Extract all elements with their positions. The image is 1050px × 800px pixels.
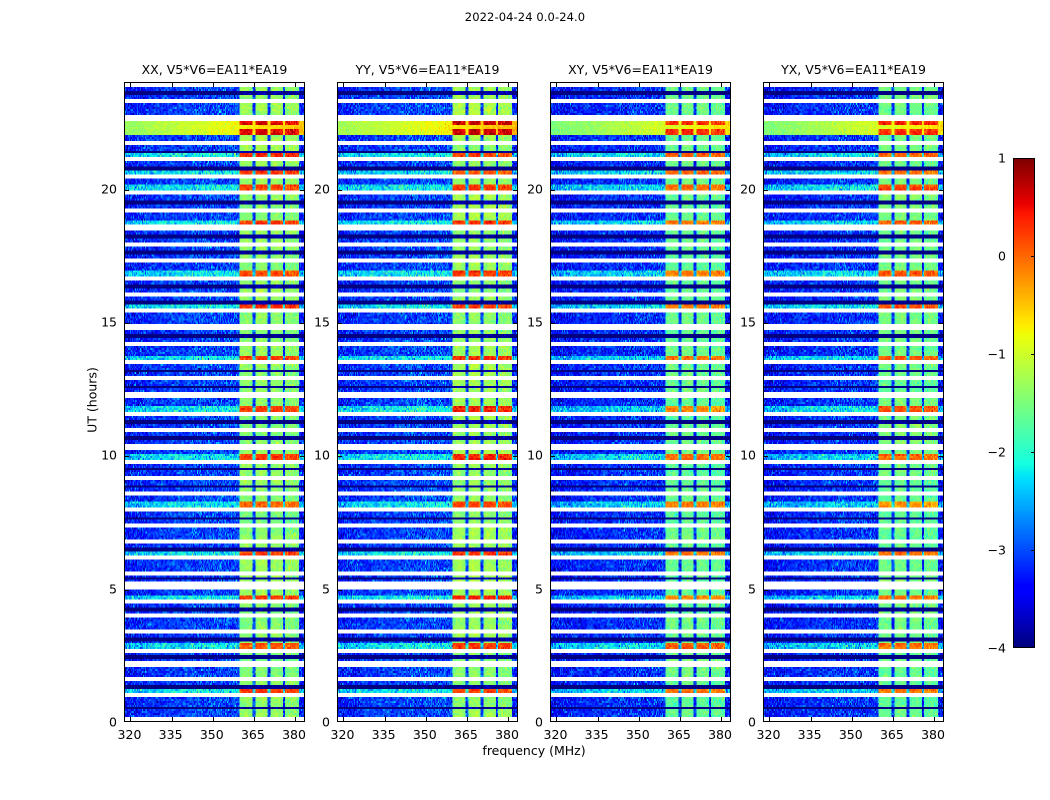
- colorbar-tick-label: 1: [998, 151, 1006, 166]
- x-tick: [385, 717, 386, 721]
- panel-title-yy: YY, V5*V6=EA11*EA19: [356, 62, 500, 77]
- y-tick: [726, 323, 730, 324]
- x-tick: [769, 83, 770, 87]
- axes-xy[interactable]: [550, 82, 731, 722]
- y-tick: [764, 456, 768, 457]
- y-tick-label: 10: [101, 448, 117, 463]
- colorbar-tick-label: 0: [998, 249, 1006, 264]
- x-tick-label: 335: [585, 727, 609, 742]
- x-tick-label: 365: [667, 727, 691, 742]
- y-tick-label: 15: [740, 315, 756, 330]
- x-tick-label: 380: [495, 727, 519, 742]
- x-tick-label: 320: [118, 727, 142, 742]
- colorbar-gradient: [1013, 158, 1035, 648]
- x-tick: [295, 717, 296, 721]
- y-tick: [939, 456, 943, 457]
- y-tick: [125, 323, 129, 324]
- x-tick: [556, 83, 557, 87]
- y-tick-label: 20: [314, 181, 330, 196]
- x-tick-label: 350: [626, 727, 650, 742]
- x-tick: [852, 717, 853, 721]
- colorbar-tick: [1031, 550, 1035, 551]
- x-tick: [508, 717, 509, 721]
- y-tick-label: 15: [101, 315, 117, 330]
- y-tick-label: 5: [748, 581, 756, 596]
- x-axis-label: frequency (MHz): [482, 743, 585, 758]
- x-tick: [893, 717, 894, 721]
- y-tick: [513, 323, 517, 324]
- x-tick: [680, 83, 681, 87]
- x-tick: [598, 717, 599, 721]
- y-tick-label: 5: [322, 581, 330, 596]
- y-tick-label: 15: [527, 315, 543, 330]
- y-axis-label: UT (hours): [85, 367, 100, 433]
- y-tick-label: 0: [535, 715, 543, 730]
- x-tick-label: 335: [798, 727, 822, 742]
- axes-yx[interactable]: [763, 82, 944, 722]
- y-tick-label: 5: [109, 581, 117, 596]
- x-tick: [130, 717, 131, 721]
- y-tick-label: 20: [740, 181, 756, 196]
- panel-yx: YX, V5*V6=EA11*EA19320335350365380051015…: [763, 82, 944, 722]
- dynamic-spectrum-image: [338, 83, 517, 721]
- y-tick: [764, 323, 768, 324]
- y-tick-label: 0: [748, 715, 756, 730]
- x-tick: [639, 717, 640, 721]
- x-tick: [254, 83, 255, 87]
- y-tick: [764, 590, 768, 591]
- x-tick: [172, 717, 173, 721]
- y-tick: [300, 190, 304, 191]
- x-tick: [467, 83, 468, 87]
- y-tick: [551, 456, 555, 457]
- dynamic-spectrum-image: [764, 83, 943, 721]
- x-tick: [213, 717, 214, 721]
- colorbar-tick: [1031, 256, 1035, 257]
- x-tick: [721, 717, 722, 721]
- x-tick-label: 365: [880, 727, 904, 742]
- x-tick-label: 320: [331, 727, 355, 742]
- x-tick-label: 365: [241, 727, 265, 742]
- y-tick: [513, 190, 517, 191]
- x-tick: [295, 83, 296, 87]
- panel-title-xx: XX, V5*V6=EA11*EA19: [142, 62, 288, 77]
- y-tick: [338, 590, 342, 591]
- x-tick: [467, 717, 468, 721]
- x-tick-label: 335: [159, 727, 183, 742]
- x-tick: [811, 717, 812, 721]
- axes-xx[interactable]: [124, 82, 305, 722]
- y-tick: [551, 323, 555, 324]
- y-tick: [300, 590, 304, 591]
- y-tick-label: 0: [322, 715, 330, 730]
- y-tick-label: 5: [535, 581, 543, 596]
- y-tick: [513, 590, 517, 591]
- x-tick: [769, 717, 770, 721]
- y-tick: [939, 190, 943, 191]
- y-tick: [726, 590, 730, 591]
- panel-title-yx: YX, V5*V6=EA11*EA19: [781, 62, 926, 77]
- x-tick: [254, 717, 255, 721]
- y-tick: [125, 190, 129, 191]
- colorbar-tick-label: −4: [988, 641, 1006, 656]
- x-tick: [893, 83, 894, 87]
- colorbar-tick-label: −2: [988, 445, 1006, 460]
- y-tick-label: 10: [527, 448, 543, 463]
- colorbar-tick-label: −1: [988, 347, 1006, 362]
- y-tick-label: 0: [109, 715, 117, 730]
- x-tick-label: 350: [413, 727, 437, 742]
- figure-suptitle: 2022-04-24 0.0-24.0: [0, 10, 1050, 24]
- y-tick: [726, 456, 730, 457]
- y-tick: [513, 456, 517, 457]
- x-tick: [639, 83, 640, 87]
- y-tick: [338, 323, 342, 324]
- x-tick: [721, 83, 722, 87]
- y-tick-label: 15: [314, 315, 330, 330]
- y-tick: [125, 590, 129, 591]
- panel-yy: YY, V5*V6=EA11*EA19320335350365380051015…: [337, 82, 518, 722]
- colorbar[interactable]: −4−3−2−101: [1013, 158, 1035, 648]
- panel-xx: XX, V5*V6=EA11*EA19320335350365380051015…: [124, 82, 305, 722]
- x-tick: [343, 717, 344, 721]
- colorbar-tick: [1031, 354, 1035, 355]
- y-tick: [764, 190, 768, 191]
- x-tick-label: 350: [200, 727, 224, 742]
- x-tick: [343, 83, 344, 87]
- y-tick: [125, 456, 129, 457]
- x-tick-label: 335: [372, 727, 396, 742]
- x-tick: [598, 83, 599, 87]
- y-tick-label: 10: [314, 448, 330, 463]
- x-tick: [680, 717, 681, 721]
- x-tick: [934, 83, 935, 87]
- y-tick-label: 20: [527, 181, 543, 196]
- y-tick: [726, 190, 730, 191]
- x-tick: [385, 83, 386, 87]
- x-tick: [426, 717, 427, 721]
- x-tick-label: 320: [544, 727, 568, 742]
- panel-title-xy: XY, V5*V6=EA11*EA19: [568, 62, 713, 77]
- x-tick-label: 380: [921, 727, 945, 742]
- x-tick: [811, 83, 812, 87]
- y-tick: [338, 456, 342, 457]
- dynamic-spectrum-image: [125, 83, 304, 721]
- x-tick-label: 365: [454, 727, 478, 742]
- y-tick: [338, 190, 342, 191]
- x-tick: [426, 83, 427, 87]
- y-tick: [551, 190, 555, 191]
- x-tick: [556, 717, 557, 721]
- y-tick: [300, 456, 304, 457]
- x-tick: [934, 717, 935, 721]
- x-tick: [130, 83, 131, 87]
- x-tick: [508, 83, 509, 87]
- x-tick: [172, 83, 173, 87]
- y-tick: [300, 323, 304, 324]
- y-tick-label: 20: [101, 181, 117, 196]
- dynamic-spectrum-image: [551, 83, 730, 721]
- panel-xy: XY, V5*V6=EA11*EA19320335350365380051015…: [550, 82, 731, 722]
- colorbar-tick: [1031, 452, 1035, 453]
- x-tick-label: 350: [839, 727, 863, 742]
- x-tick-label: 320: [757, 727, 781, 742]
- y-tick: [551, 590, 555, 591]
- figure-canvas: 2022-04-24 0.0-24.0 UT (hours) frequency…: [0, 0, 1050, 800]
- x-tick: [213, 83, 214, 87]
- y-tick-label: 10: [740, 448, 756, 463]
- y-tick: [939, 590, 943, 591]
- y-tick: [939, 323, 943, 324]
- x-tick-label: 380: [282, 727, 306, 742]
- axes-yy[interactable]: [337, 82, 518, 722]
- x-tick: [852, 83, 853, 87]
- colorbar-tick-label: −3: [988, 543, 1006, 558]
- x-tick-label: 380: [708, 727, 732, 742]
